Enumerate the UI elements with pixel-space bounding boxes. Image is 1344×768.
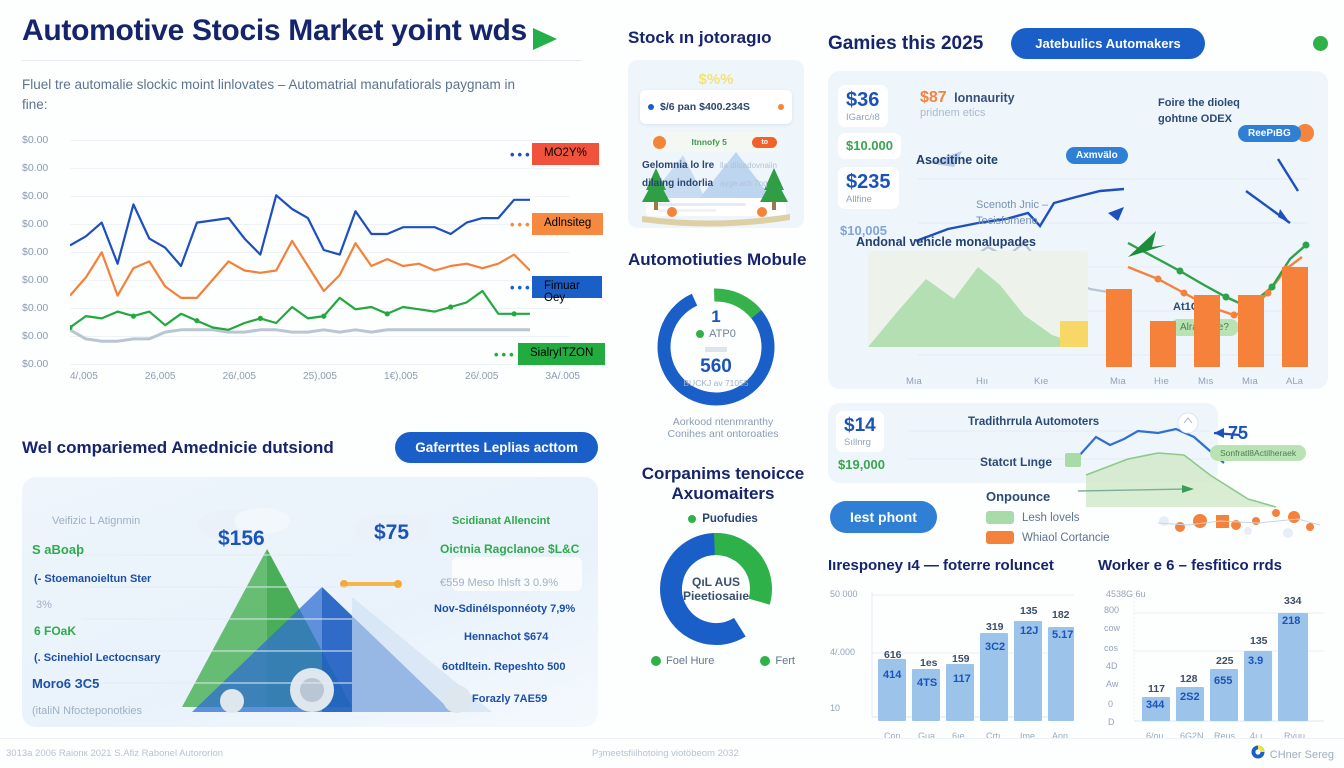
y-tick: $0.00 <box>22 246 48 258</box>
chart-label-3: Tecisfomeno <box>976 215 1038 227</box>
area-x-label: Kıe <box>1034 376 1048 387</box>
y-tick: $0.00 <box>22 190 48 202</box>
donut2-chart[interactable]: QıL AUS Pieetiosaiıe <box>628 529 804 649</box>
bar-value-inside: 414 <box>883 669 901 681</box>
green-dot-icon <box>688 515 696 523</box>
bar-value-inside: 117 <box>953 673 971 685</box>
list-item: Scidianat Allencint <box>452 515 550 527</box>
right-panel-1: $36 IGarc/ı8 $10.000 $235 Allfine $10,00… <box>828 71 1328 389</box>
inline-sub: pridnem etics <box>920 107 1015 119</box>
bar-value-top: 334 <box>1284 595 1302 607</box>
left-column: Automotive Stocis Market yoint wds Fluel… <box>22 14 610 388</box>
stat2-value: $10.000 <box>846 138 893 153</box>
stock-row[interactable]: Itnnofy 5 to <box>650 132 780 152</box>
green-swatch-icon <box>1065 453 1081 467</box>
panel2-badge-tag[interactable]: Sonfratl8Actilheraek <box>1210 445 1306 461</box>
list-item: S aBoaþ <box>32 543 84 557</box>
y-tick: $0.00 <box>22 274 48 286</box>
list-item: 6 FOaK <box>34 625 76 638</box>
annotation-1: Foire the dioleq <box>1158 97 1240 109</box>
green-arrow-icon <box>533 28 557 50</box>
bar-x-label: Mıa <box>1110 376 1126 387</box>
y-tick: $0.00 <box>22 330 48 342</box>
green-dot-icon <box>696 330 704 338</box>
list-item: Nov-SdinéIsponnéoty 7,9% <box>434 603 575 615</box>
bar-value-top: 182 <box>1052 609 1070 621</box>
donut1-caption-1: Aorkood ntenmranthy <box>628 416 818 428</box>
chart-label-1: Asocitine oite <box>916 153 998 167</box>
green-dot-icon <box>651 656 661 666</box>
stock-storage-title: Stock ın jotoragıo <box>628 28 818 48</box>
donut1-caption-2: Conihes ant ontoroaties <box>628 428 818 440</box>
list-item: €559 Meso Ihlsft 3 0.9% <box>440 577 558 589</box>
illus-line-2: dilaing indorlia <box>642 178 713 189</box>
y-tick: $0.00 <box>22 162 48 174</box>
panel2-label-3: Onpounce <box>986 489 1050 504</box>
bar-x-label: Mıa <box>1242 376 1258 387</box>
comparison-panel-title: Wel compariemed Amednicie dutsiond <box>22 438 334 458</box>
y-tick: $0.00 <box>22 302 48 314</box>
x-axis: 4/,005 26,005 26/,005 25),005 1€),005 26… <box>70 371 580 382</box>
bar-value-inside: 4TS <box>917 677 937 689</box>
footer-center: Pȝmeetsfiilhotoing viotöbeom 2032 <box>592 748 739 759</box>
bar-value-top: 616 <box>884 649 902 661</box>
tag-axmvalo[interactable]: Axmvälo <box>1066 147 1128 164</box>
right-panel-2: $14 Sıllnrg $19,000 Tradithrrula Automot… <box>828 403 1328 543</box>
orange-dot-icon <box>778 104 784 110</box>
donut2-legend-item: Fert <box>775 655 795 667</box>
donut1-chart[interactable]: 1 ATP0 560 BUCKJ av 71055 <box>628 282 804 412</box>
panel2-stat-value: $14 <box>844 415 876 437</box>
stock-value-card: $/6 pan $400.234S <box>640 90 792 124</box>
legend-pill-fimuar[interactable]: Fimuar Oey <box>532 276 602 298</box>
bar-value-top: 225 <box>1216 655 1234 667</box>
list-item: (. Scinehiol Lectocnsary <box>34 652 161 664</box>
legend-pill-sialry[interactable]: SialryITZON <box>518 343 605 365</box>
footer-left: 3013a 2006 Raionк 2021 S.Afiz Rabonel Au… <box>6 748 223 759</box>
donut1-value-top: 1 <box>711 307 720 327</box>
x-tick: 26/,005 <box>223 371 256 382</box>
stock-row-badge: to <box>752 137 777 148</box>
panel2-stat-chip: $14 Sıllnrg <box>836 411 884 452</box>
donut1-block: Automotiuties Mobule 1 ATP0 560 <box>628 250 818 440</box>
bar-value-top: 135 <box>1250 635 1268 647</box>
tag-reepibg[interactable]: ReePıBG <box>1238 125 1301 142</box>
donut1-title: Automotiuties Mobule <box>628 250 818 270</box>
bar-value-inside: 3C2 <box>985 641 1005 653</box>
bar-value-top: 135 <box>1020 605 1038 617</box>
bar-value-inside: 12J <box>1020 625 1038 637</box>
leplias-action-button[interactable]: Gaferrttes Leplias acttom <box>395 432 598 463</box>
stat-chip-2: $10.000 <box>838 133 901 159</box>
illus-line-2b: ayge aclı 7nq <box>720 179 768 188</box>
bar-x-label: Hıe <box>1154 376 1169 387</box>
x-tick: 25),005 <box>303 371 337 382</box>
page-header: Automotive Stocis Market yoint wds <box>22 14 610 50</box>
bar-value-top: 128 <box>1180 673 1198 685</box>
right-column: Gamies this 2025 Jatebuılics Automakers <box>828 28 1328 747</box>
automakers-button[interactable]: Jatebuılics Automakers <box>1011 28 1204 59</box>
legend-swatch-green <box>986 511 1014 524</box>
x-tick: 26,005 <box>145 371 176 382</box>
legend-swatch-orange <box>986 531 1014 544</box>
legend-pill-adlnsiteg[interactable]: Adlnsiteg <box>532 213 603 235</box>
bar-value-top: 1es <box>920 657 938 669</box>
area-x-label: Hıı <box>976 376 988 387</box>
panel2-stat-sub: Sıllnrg <box>844 437 876 448</box>
legend-pill-mo2y[interactable]: MO2Y% <box>532 143 599 165</box>
page-subtitle: Fluel tre automalie slockic moint linlov… <box>22 75 542 116</box>
header-divider <box>22 60 582 61</box>
annotation-2: gohtıne ODEX <box>1158 113 1232 125</box>
list-item: Veifizic L Atignmin <box>52 515 140 527</box>
bar-value-inside: 655 <box>1214 675 1232 687</box>
main-line-chart: $0.00 $0.00 $0.00 $0.00 $0.00 $0.00 $0.0… <box>22 128 602 388</box>
x-tick: 1€),005 <box>384 371 418 382</box>
donut1-label-top: ATP0 <box>709 328 736 340</box>
bar <box>1238 295 1264 367</box>
page-title: Automotive Stocis Market yoint wds <box>22 14 527 48</box>
donut2-legend-top: Puofudies <box>702 513 758 525</box>
footer: 3013a 2006 Raionк 2021 S.Afiz Rabonel Au… <box>0 738 1344 768</box>
bar-value-top: 319 <box>986 621 1004 633</box>
donut2-legend-item: Foel Hure <box>666 655 714 667</box>
footer-right: CHner Sereg <box>1270 749 1334 761</box>
inline-value: $87 <box>920 89 947 106</box>
donut1-label-main: BUCKJ av 71055 <box>683 378 748 388</box>
panel2-badge-value: 75 <box>1228 423 1248 444</box>
inline-label: lonnaurity <box>954 91 1014 105</box>
y-tick: $0.00 <box>22 218 48 230</box>
x-tick: 4/,005 <box>70 371 98 382</box>
stat3-value: $235 <box>846 171 891 194</box>
stat1-sub: IGarc/ı8 <box>846 112 880 123</box>
status-dot-icon <box>1313 36 1328 51</box>
blue-dot-icon <box>648 104 654 110</box>
orange-dot-icon <box>653 136 666 149</box>
x-tick: 3A/.005 <box>545 371 579 382</box>
bar-value-inside: 2S2 <box>1180 691 1200 703</box>
list-item: 6otdltein. Repeshto 500 <box>442 661 565 673</box>
list-item: (italiN Nfocteponotkies <box>32 705 142 717</box>
bottom-bar-charts: Iıresponey ı4 — foterre roluncet 50 000 … <box>828 557 1328 747</box>
svg-text:$%%: $%% <box>698 71 733 88</box>
bar-x-label: ALa <box>1286 376 1303 387</box>
stat-chip-1: $36 IGarc/ı8 <box>838 85 888 127</box>
stat3-sub: Allfine <box>846 194 891 205</box>
stat-chip-3: $235 Allfine <box>838 167 899 209</box>
donut2-block: Corpanims tenoicce Axuomaiters Puofudies… <box>628 464 818 667</box>
green-dot-icon <box>760 656 770 666</box>
area-x-label: Mıa <box>906 376 922 387</box>
bar-value-top: 159 <box>952 653 970 665</box>
stat1-value: $36 <box>846 89 880 112</box>
legend-dots: ••• <box>510 217 533 232</box>
bar-value-inside: 344 <box>1146 699 1164 711</box>
line-chart-plot <box>70 128 530 368</box>
bar-chart-worker: Worker e 6 – fesfitico rrds 4538G 6u 800… <box>1098 557 1328 747</box>
panel2-legend-label: Lesh lovels <box>1022 512 1080 524</box>
bar <box>1278 613 1308 721</box>
bar-value-top: 117 <box>1148 683 1165 695</box>
middle-column: Stock ın jotoragıo $%% <box>628 28 818 667</box>
y-tick: $0.00 <box>22 358 48 370</box>
panel2-label-1: Tradithrrula Automoters <box>968 416 1099 428</box>
comparison-panel: Wel compariemed Amednicie dutsiond Gafer… <box>22 432 610 727</box>
y-tick: $0.00 <box>22 134 48 146</box>
stock-storage-illustration: $%% $/6 pan $400.234S <box>628 60 804 228</box>
bar-x-label: Mıs <box>1198 376 1213 387</box>
illus-line-1b: lla dlloadovnaiin <box>720 161 777 170</box>
stock-value: $/6 pan $400.234S <box>660 101 750 113</box>
big-value: $156 <box>218 527 265 551</box>
list-item: Moro6 ЗC5 <box>32 677 99 691</box>
bar <box>1106 289 1132 367</box>
bar-value-inside: 218 <box>1282 615 1300 627</box>
donut2-center-1: QıL AUS <box>692 575 740 589</box>
list-item: 3% <box>36 599 52 611</box>
bar <box>1048 627 1074 721</box>
legend-dots: ••• <box>510 147 533 162</box>
panel2-legend-label: Whiaol Cortancie <box>1022 532 1110 544</box>
donut2-title-2: Axuomaiters <box>628 484 818 504</box>
brand-logo-icon <box>1251 745 1265 764</box>
iest-phont-button[interactable]: Iest phont <box>830 501 937 533</box>
legend-dots: ••• <box>494 347 517 362</box>
donut1-value-main: 560 <box>700 356 732 378</box>
chart-label-4: Andonal vehicle monalupades <box>856 235 1036 249</box>
right-column-title: Gamies this 2025 <box>828 33 983 55</box>
bar <box>1282 267 1308 367</box>
panel2-label-2: Statcıt Lınge <box>980 455 1052 469</box>
bar-value-inside: 5.17 <box>1052 629 1073 641</box>
divider <box>705 347 727 352</box>
list-item: Forazly 7AE59 <box>472 693 547 705</box>
bar-chart-responey: Iıresponey ı4 — foterre roluncet 50 000 … <box>828 557 1078 747</box>
legend-dots: ••• <box>510 280 533 295</box>
list-item: Hennachot $674 <box>464 631 548 643</box>
list-item: (- Stoemanoieltun Ster <box>34 573 151 585</box>
panel2-stat-value-2: $19,000 <box>838 457 885 472</box>
dashboard-page: Automotive Stocis Market yoint wds Fluel… <box>0 0 1344 768</box>
stock-row-label: Itnnofy 5 <box>691 137 726 147</box>
x-tick: 26/.005 <box>465 371 498 382</box>
illus-line-1: Gelomnia lo lre <box>642 160 714 171</box>
comparison-panel-body: Veifizic L Atignmin S aBoaþ (- Stoemanoi… <box>22 477 598 727</box>
big-value: $75 <box>374 521 409 545</box>
bar <box>1194 295 1220 367</box>
list-item: Oictnia Ragclanoe $L&C <box>440 543 579 556</box>
chart-label-2: Scenoth Jnic – <box>976 199 1048 211</box>
donut2-title-1: Corpanims tenoicce <box>628 464 818 484</box>
donut2-center-2: Pieetiosaiıe <box>683 589 749 603</box>
bar <box>1150 321 1176 367</box>
bar-value-inside: 3.9 <box>1248 655 1263 667</box>
